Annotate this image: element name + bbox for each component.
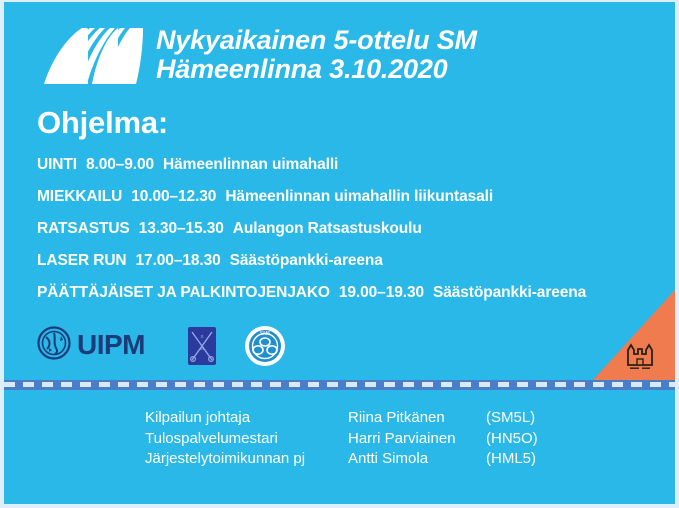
program-time: 10.00–12.30 xyxy=(131,188,216,205)
official-role: Kilpailun johtaja xyxy=(145,408,348,429)
official-row: Järjestelytoimikunnan pjAntti Simola(HML… xyxy=(145,449,538,470)
program-sport: MIEKKAILU xyxy=(37,188,122,205)
program-venue: Aulangon Ratsastuskoulu xyxy=(233,220,422,237)
program-list: UINTI8.00–9.00Hämeenlinnan uimahalli MIE… xyxy=(37,157,657,317)
program-venue: Säästöpankki-areena xyxy=(230,252,383,269)
official-club: (SM5L) xyxy=(486,408,535,429)
hameenlinna-castle-icon xyxy=(624,340,656,370)
official-role: Tulospalvelumestari xyxy=(145,429,348,450)
program-time: 13.30–15.30 xyxy=(139,220,224,237)
svg-text:S: S xyxy=(200,334,203,339)
poster-title-block: Nykyaikainen 5-ottelu SM Hämeenlinna 3.1… xyxy=(156,26,477,84)
program-row: PÄÄTTÄJÄISET JA PALKINTOJENJAKO19.00–19.… xyxy=(37,285,657,317)
uipm-logo: UIPM xyxy=(37,326,162,366)
svg-text:SM5: SM5 xyxy=(260,331,271,337)
program-heading: Ohjelma: xyxy=(37,105,168,141)
svg-text:M: M xyxy=(200,346,204,351)
program-sport: RATSASTUS xyxy=(37,220,130,237)
poster-title-line-1: Nykyaikainen 5-ottelu SM xyxy=(156,26,477,55)
dashed-divider xyxy=(4,380,675,390)
official-row: TulospalvelumestariHarri Parviainen(HN5O… xyxy=(145,429,538,450)
program-row: MIEKKAILU10.00–12.30Hämeenlinnan uimahal… xyxy=(37,189,657,221)
crossed-swords-shield-icon: S M xyxy=(187,326,217,366)
program-row: RATSASTUS13.30–15.30Aulangon Ratsastusko… xyxy=(37,221,657,253)
program-venue: Hämeenlinnan uimahalli xyxy=(163,156,338,173)
official-name: Harri Parviainen xyxy=(348,429,486,450)
hameenlinna-fan-logo-icon xyxy=(44,26,149,86)
program-sport: PÄÄTTÄJÄISET JA PALKINTOJENJAKO xyxy=(37,284,330,301)
program-time: 8.00–9.00 xyxy=(86,156,154,173)
official-role: Järjestelytoimikunnan pj xyxy=(145,449,348,470)
official-name: Antti Simola xyxy=(348,449,486,470)
program-venue: Hämeenlinnan uimahallin liikuntasali xyxy=(225,188,493,205)
program-venue: Säästöpankki-areena xyxy=(433,284,586,301)
official-club: (HN5O) xyxy=(486,429,538,450)
program-row: UINTI8.00–9.00Hämeenlinnan uimahalli xyxy=(37,157,657,189)
fencing-federation-logo: S M xyxy=(187,326,217,366)
event-poster: Nykyaikainen 5-ottelu SM Hämeenlinna 3.1… xyxy=(4,2,675,504)
program-time: 17.00–18.30 xyxy=(136,252,221,269)
uipm-wordmark: UIPM xyxy=(77,330,145,360)
poster-title-line-2: Hämeenlinna 3.10.2020 xyxy=(156,55,477,84)
federation-circular-logo: SM5 xyxy=(244,325,286,367)
officials-list: Kilpailun johtajaRiina Pitkänen(SM5L) Tu… xyxy=(145,408,538,470)
poster-header: Nykyaikainen 5-ottelu SM Hämeenlinna 3.1… xyxy=(4,2,675,97)
divider-dashes xyxy=(4,382,675,387)
globe-icon xyxy=(37,326,71,360)
program-row: LASER RUN17.00–18.30Säästöpankki-areena xyxy=(37,253,657,285)
official-name: Riina Pitkänen xyxy=(348,408,486,429)
program-sport: UINTI xyxy=(37,156,77,173)
official-club: (HML5) xyxy=(486,449,536,470)
official-row: Kilpailun johtajaRiina Pitkänen(SM5L) xyxy=(145,408,538,429)
program-time: 19.00–19.30 xyxy=(339,284,424,301)
circular-federation-icon: SM5 xyxy=(244,325,286,367)
program-sport: LASER RUN xyxy=(37,252,127,269)
